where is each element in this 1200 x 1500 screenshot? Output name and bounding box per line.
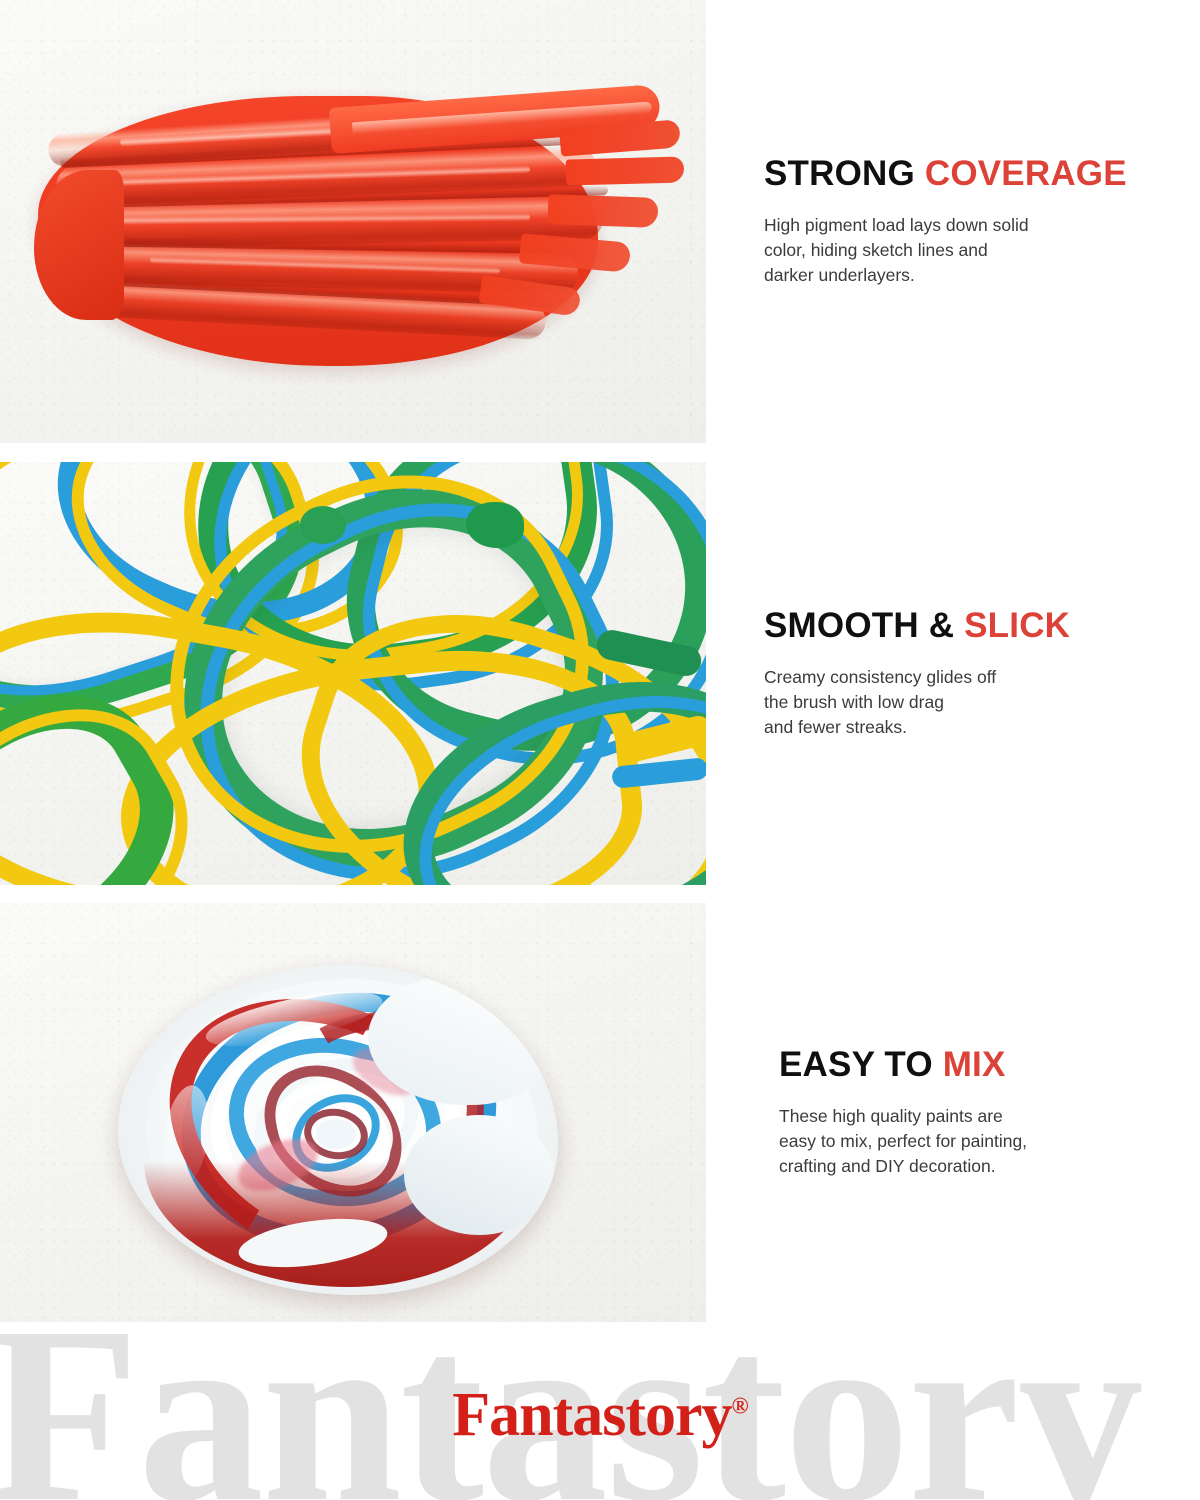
feature-body: High pigment load lays down solid color,… (764, 213, 1180, 289)
headline-primary: SMOOTH & (764, 606, 964, 645)
headline-primary: STRONG (764, 154, 925, 193)
marbled-paint-artwork (0, 903, 706, 1322)
footer-brand-bar: Fantastory Fantastory® (0, 1322, 1200, 1500)
headline-accent: MIX (943, 1045, 1006, 1084)
feature-image-strong-coverage (0, 0, 706, 443)
registered-trademark-icon: ® (732, 1393, 748, 1418)
feature-headline: SMOOTH & SLICK (764, 606, 1180, 645)
headline-accent: SLICK (964, 606, 1070, 645)
feature-body: Creamy consistency glides off the brush … (764, 665, 1180, 741)
swirled-paint-artwork (0, 462, 706, 885)
brand-logo-text: Fantastory (452, 1381, 731, 1449)
feature-row-easy-to-mix: EASY TO MIX These high quality paints ar… (0, 903, 1200, 1322)
headline-accent: COVERAGE (925, 154, 1127, 193)
product-feature-page: STRONG COVERAGE High pigment load lays d… (0, 0, 1200, 1500)
brand-logo: Fantastory® (0, 1380, 1200, 1451)
feature-body: These high quality paints are easy to mi… (779, 1104, 1180, 1180)
feature-row-smooth-slick: SMOOTH & SLICK Creamy consistency glides… (0, 462, 1200, 885)
feature-copy-easy-to-mix: EASY TO MIX These high quality paints ar… (706, 903, 1200, 1322)
red-paint-stroke-artwork (0, 0, 706, 443)
headline-primary: EASY TO (779, 1045, 943, 1084)
feature-row-strong-coverage: STRONG COVERAGE High pigment load lays d… (0, 0, 1200, 443)
feature-copy-smooth-slick: SMOOTH & SLICK Creamy consistency glides… (706, 462, 1200, 885)
feature-image-smooth-slick (0, 462, 706, 885)
feature-headline: EASY TO MIX (779, 1045, 1180, 1084)
feature-copy-strong-coverage: STRONG COVERAGE High pigment load lays d… (706, 0, 1200, 443)
feature-headline: STRONG COVERAGE (764, 154, 1180, 193)
feature-image-easy-to-mix (0, 903, 706, 1322)
